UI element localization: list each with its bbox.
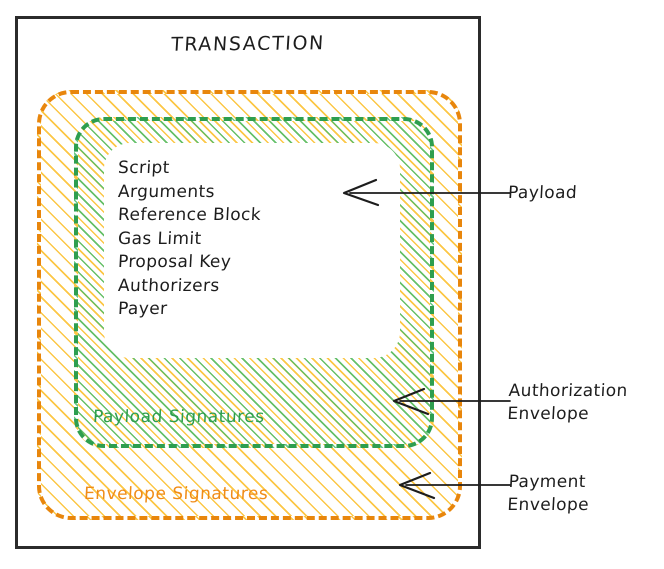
payload-field-payer: Payer [117, 298, 378, 322]
annotation-payload-line1: Payload [507, 182, 577, 205]
annotation-payload: Payload [507, 182, 577, 205]
annotation-authorization-envelope-line1: Authorization [508, 380, 628, 403]
payload-field-proposal-key: Proposal Key [117, 251, 378, 275]
annotation-payment-envelope: Payment Envelope [507, 471, 591, 517]
envelope-signatures-label: Envelope Signatures [83, 484, 268, 504]
authorization-envelope-callout-arrow-icon [386, 388, 512, 422]
annotation-authorization-envelope: Authorization Envelope [507, 380, 628, 426]
annotation-payment-envelope-line2: Envelope [507, 494, 590, 517]
annotation-authorization-envelope-line2: Envelope [507, 403, 627, 426]
payload-callout-arrow-icon [336, 178, 512, 212]
payload-signatures-label: Payload Signatures [92, 407, 265, 427]
payload-field-authorizers: Authorizers [117, 275, 378, 299]
payload-field-script: Script [117, 157, 378, 181]
annotation-payment-envelope-line1: Payment [508, 471, 591, 494]
transaction-anatomy-diagram: TRANSACTION Script Arguments Reference B… [0, 0, 664, 569]
payload-field-gas-limit: Gas Limit [117, 228, 378, 252]
payment-envelope-callout-arrow-icon [392, 472, 512, 506]
